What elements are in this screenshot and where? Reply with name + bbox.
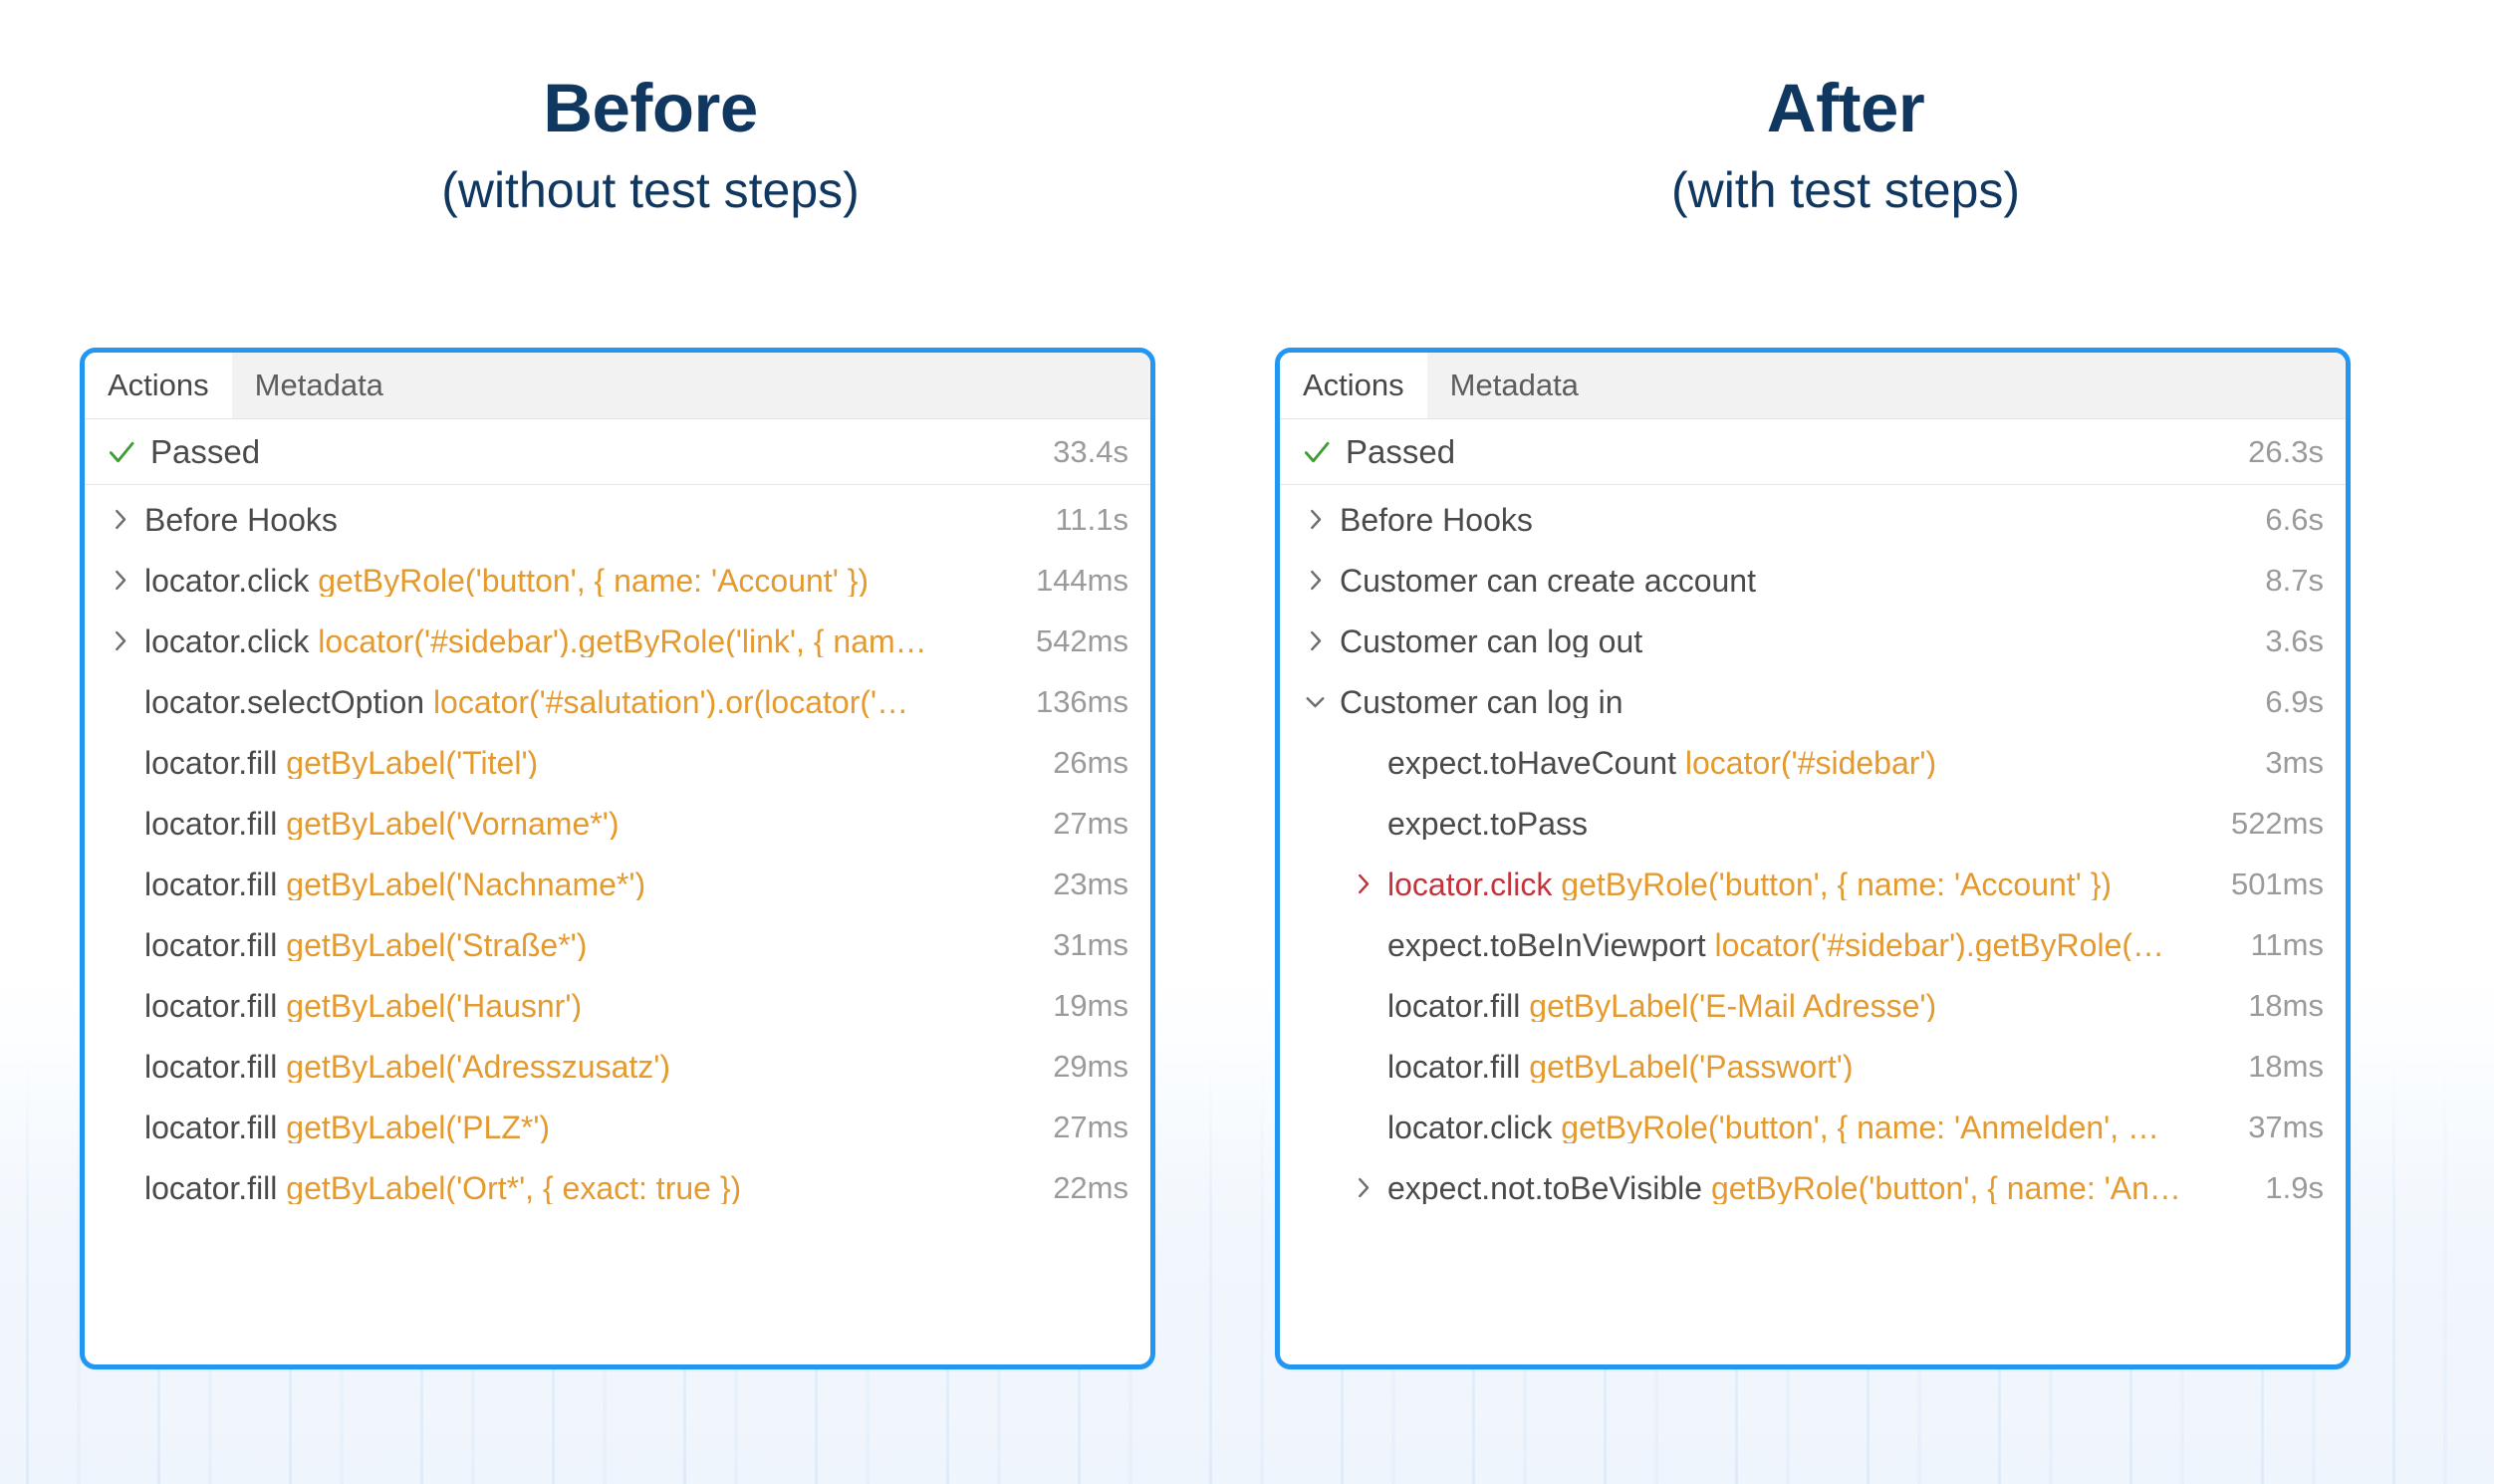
chevron-right-icon[interactable] bbox=[1348, 868, 1378, 899]
chevron-right-icon[interactable] bbox=[1300, 504, 1331, 535]
action-row[interactable]: locator.click getByRole('button', { name… bbox=[85, 550, 1150, 611]
action-duration: 11ms bbox=[2250, 927, 2324, 963]
action-text: locator.fill getByLabel('Hausnr') bbox=[144, 990, 1039, 1022]
before-action-list[interactable]: Before Hooks11.1slocator.click getByRole… bbox=[85, 485, 1150, 1218]
action-row[interactable]: locator.fill getByLabel('Adresszusatz')2… bbox=[85, 1036, 1150, 1097]
action-row[interactable]: locator.selectOption locator('#salutatio… bbox=[85, 671, 1150, 732]
action-row[interactable]: locator.fill getByLabel('Nachname*')23ms bbox=[85, 854, 1150, 914]
action-name: locator.fill bbox=[144, 929, 277, 961]
action-text: locator.click locator('#sidebar').getByR… bbox=[144, 625, 1022, 657]
action-params: getByLabel('Vorname*') bbox=[286, 808, 619, 840]
before-status-label: Passed bbox=[150, 433, 1053, 471]
before-tabbar: Actions Metadata bbox=[85, 353, 1150, 419]
chevron-right-icon[interactable] bbox=[1300, 625, 1331, 656]
action-duration: 29ms bbox=[1053, 1049, 1128, 1085]
action-row[interactable]: locator.click locator('#sidebar').getByR… bbox=[85, 611, 1150, 671]
action-text: locator.fill getByLabel('Nachname*') bbox=[144, 868, 1039, 900]
action-row[interactable]: Customer can log in6.9s bbox=[1280, 671, 2346, 732]
action-text: locator.fill getByLabel('Adresszusatz') bbox=[144, 1051, 1039, 1083]
action-duration: 8.7s bbox=[2265, 563, 2324, 599]
action-duration: 6.6s bbox=[2265, 502, 2324, 538]
action-duration: 26ms bbox=[1053, 745, 1128, 781]
tab-metadata-label: Metadata bbox=[255, 368, 383, 403]
action-params: getByLabel('Nachname*') bbox=[286, 868, 645, 900]
before-subtitle: (without test steps) bbox=[78, 165, 1223, 215]
chevron-down-icon[interactable] bbox=[1300, 686, 1331, 717]
action-name: locator.click bbox=[144, 625, 309, 657]
before-trace-panel: Actions Metadata Passed 33.4s Before Hoo… bbox=[80, 348, 1155, 1369]
action-name: locator.fill bbox=[144, 1172, 277, 1204]
after-column: After (with test steps) Actions Metadata… bbox=[1273, 0, 2418, 215]
chevron-right-icon[interactable] bbox=[105, 625, 135, 656]
action-name: Before Hooks bbox=[1340, 504, 1533, 536]
action-params: getByLabel('Hausnr') bbox=[286, 990, 582, 1022]
action-row[interactable]: locator.fill getByLabel('Hausnr')19ms bbox=[85, 975, 1150, 1036]
action-name: Before Hooks bbox=[144, 504, 338, 536]
action-params: getByLabel('Straße*') bbox=[286, 929, 587, 961]
action-name: Customer can log in bbox=[1340, 686, 1623, 718]
action-row[interactable]: locator.click getByRole('button', { name… bbox=[1280, 1097, 2346, 1157]
tab-actions[interactable]: Actions bbox=[85, 353, 232, 418]
action-row[interactable]: Before Hooks6.6s bbox=[1280, 489, 2346, 550]
action-name: locator.fill bbox=[144, 868, 277, 900]
after-status-label: Passed bbox=[1346, 433, 2248, 471]
action-duration: 31ms bbox=[1053, 927, 1128, 963]
action-name: locator.click bbox=[1387, 1112, 1552, 1143]
tab-metadata[interactable]: Metadata bbox=[232, 353, 406, 418]
before-column: Before (without test steps) Actions Meta… bbox=[78, 0, 1223, 215]
action-name: locator.click bbox=[144, 565, 309, 597]
action-name: locator.fill bbox=[144, 1112, 277, 1143]
action-params: getByLabel('PLZ*') bbox=[286, 1112, 550, 1143]
chevron-right-icon[interactable] bbox=[105, 504, 135, 535]
action-text: locator.click getByRole('button', { name… bbox=[1387, 868, 2217, 900]
action-duration: 18ms bbox=[2248, 988, 2324, 1024]
action-row[interactable]: locator.fill getByLabel('Vorname*')27ms bbox=[85, 793, 1150, 854]
check-icon bbox=[105, 435, 138, 469]
action-duration: 144ms bbox=[1036, 563, 1128, 599]
action-params: getByRole('button', { name: 'Account' }) bbox=[1561, 868, 2112, 900]
before-heading-block: Before (without test steps) bbox=[78, 0, 1223, 215]
action-text: Customer can log in bbox=[1340, 686, 2251, 718]
action-name: expect.toHaveCount bbox=[1387, 747, 1676, 779]
action-row[interactable]: expect.toBeInViewport locator('#sidebar'… bbox=[1280, 914, 2346, 975]
action-params: locator('#sidebar').getByRole(… bbox=[1715, 929, 2165, 961]
action-text: locator.fill getByLabel('Passwort') bbox=[1387, 1051, 2234, 1083]
action-duration: 3ms bbox=[2265, 745, 2324, 781]
action-duration: 23ms bbox=[1053, 866, 1128, 902]
chevron-right-icon[interactable] bbox=[105, 565, 135, 596]
action-params: locator('#sidebar').getByRole('link', { … bbox=[318, 625, 926, 657]
action-name: locator.fill bbox=[144, 747, 277, 779]
action-duration: 22ms bbox=[1053, 1170, 1128, 1206]
action-name: Customer can log out bbox=[1340, 625, 1642, 657]
action-text: Before Hooks bbox=[1340, 504, 2251, 536]
action-text: locator.selectOption locator('#salutatio… bbox=[144, 686, 1022, 718]
action-params: locator('#sidebar') bbox=[1685, 747, 1936, 779]
after-status-duration: 26.3s bbox=[2248, 434, 2324, 470]
action-params: getByRole('button', { name: 'Anmelden', … bbox=[1561, 1112, 2159, 1143]
after-status-row: Passed 26.3s bbox=[1280, 419, 2346, 485]
action-duration: 27ms bbox=[1053, 1110, 1128, 1145]
action-text: locator.fill getByLabel('Straße*') bbox=[144, 929, 1039, 961]
action-text: Before Hooks bbox=[144, 504, 1041, 536]
comparison-page: Before (without test steps) Actions Meta… bbox=[0, 0, 2494, 1484]
action-duration: 19ms bbox=[1053, 988, 1128, 1024]
action-text: locator.click getByRole('button', { name… bbox=[144, 565, 1022, 597]
action-params: getByLabel('Ort*', { exact: true }) bbox=[286, 1172, 741, 1204]
after-heading-block: After (with test steps) bbox=[1273, 0, 2418, 215]
after-trace-panel: Actions Metadata Passed 26.3s Before Hoo… bbox=[1275, 348, 2351, 1369]
action-text: Customer can log out bbox=[1340, 625, 2251, 657]
action-duration: 136ms bbox=[1036, 684, 1128, 720]
action-duration: 501ms bbox=[2231, 866, 2324, 902]
action-text: locator.fill getByLabel('Ort*', { exact:… bbox=[144, 1172, 1039, 1204]
tab-actions-label: Actions bbox=[1303, 368, 1404, 403]
action-row[interactable]: Customer can create account8.7s bbox=[1280, 550, 2346, 611]
chevron-right-icon[interactable] bbox=[1300, 565, 1331, 596]
action-params: locator('#salutation').or(locator('… bbox=[433, 686, 908, 718]
action-row[interactable]: expect.not.toBeVisible getByRole('button… bbox=[1280, 1157, 2346, 1218]
after-title: After bbox=[1273, 74, 2418, 142]
action-row[interactable]: expect.toHaveCount locator('#sidebar')3m… bbox=[1280, 732, 2346, 793]
before-title: Before bbox=[78, 74, 1223, 142]
action-name: Customer can create account bbox=[1340, 565, 1756, 597]
action-name: locator.click bbox=[1387, 868, 1552, 900]
action-row[interactable]: locator.fill getByLabel('Passwort')18ms bbox=[1280, 1036, 2346, 1097]
action-text: locator.fill getByLabel('Vorname*') bbox=[144, 808, 1039, 840]
action-row[interactable]: locator.fill getByLabel('Ort*', { exact:… bbox=[85, 1157, 1150, 1218]
action-duration: 27ms bbox=[1053, 806, 1128, 842]
action-row[interactable]: expect.toPass522ms bbox=[1280, 793, 2346, 854]
action-name: expect.toPass bbox=[1387, 808, 1588, 840]
action-name: locator.fill bbox=[1387, 990, 1520, 1022]
action-duration: 1.9s bbox=[2265, 1170, 2324, 1206]
action-duration: 37ms bbox=[2248, 1110, 2324, 1145]
action-row[interactable]: Customer can log out3.6s bbox=[1280, 611, 2346, 671]
action-duration: 522ms bbox=[2231, 806, 2324, 842]
action-name: expect.not.toBeVisible bbox=[1387, 1172, 1702, 1204]
chevron-right-icon[interactable] bbox=[1348, 1172, 1378, 1203]
action-text: locator.fill getByLabel('PLZ*') bbox=[144, 1112, 1039, 1143]
before-status-row: Passed 33.4s bbox=[85, 419, 1150, 485]
after-subtitle: (with test steps) bbox=[1273, 165, 2418, 215]
action-row[interactable]: Before Hooks11.1s bbox=[85, 489, 1150, 550]
action-duration: 6.9s bbox=[2265, 684, 2324, 720]
action-text: expect.toPass bbox=[1387, 808, 2217, 840]
tab-metadata[interactable]: Metadata bbox=[1427, 353, 1602, 418]
action-row[interactable]: locator.click getByRole('button', { name… bbox=[1280, 854, 2346, 914]
action-text: expect.not.toBeVisible getByRole('button… bbox=[1387, 1172, 2251, 1204]
action-params: getByRole('button', { name: 'Account' }) bbox=[318, 565, 869, 597]
action-params: getByRole('button', { name: 'An… bbox=[1711, 1172, 2181, 1204]
action-params: getByLabel('E-Mail Adresse') bbox=[1529, 990, 1936, 1022]
action-name: expect.toBeInViewport bbox=[1387, 929, 1706, 961]
check-icon bbox=[1300, 435, 1334, 469]
tab-actions-label: Actions bbox=[108, 368, 209, 403]
action-text: locator.fill getByLabel('Titel') bbox=[144, 747, 1039, 779]
action-params: getByLabel('Passwort') bbox=[1529, 1051, 1853, 1083]
action-row[interactable]: locator.fill getByLabel('E-Mail Adresse'… bbox=[1280, 975, 2346, 1036]
action-text: expect.toBeInViewport locator('#sidebar'… bbox=[1387, 929, 2236, 961]
action-name: locator.fill bbox=[144, 990, 277, 1022]
before-status-duration: 33.4s bbox=[1053, 434, 1128, 470]
action-text: locator.click getByRole('button', { name… bbox=[1387, 1112, 2234, 1143]
action-name: locator.fill bbox=[144, 808, 277, 840]
action-row[interactable]: locator.fill getByLabel('PLZ*')27ms bbox=[85, 1097, 1150, 1157]
action-params: getByLabel('Titel') bbox=[286, 747, 538, 779]
action-duration: 18ms bbox=[2248, 1049, 2324, 1085]
tab-actions[interactable]: Actions bbox=[1280, 353, 1427, 418]
action-duration: 11.1s bbox=[1055, 502, 1128, 538]
action-name: locator.selectOption bbox=[144, 686, 424, 718]
action-row[interactable]: locator.fill getByLabel('Straße*')31ms bbox=[85, 914, 1150, 975]
action-name: locator.fill bbox=[144, 1051, 277, 1083]
action-row[interactable]: locator.fill getByLabel('Titel')26ms bbox=[85, 732, 1150, 793]
action-duration: 3.6s bbox=[2265, 623, 2324, 659]
action-text: locator.fill getByLabel('E-Mail Adresse'… bbox=[1387, 990, 2234, 1022]
action-text: Customer can create account bbox=[1340, 565, 2251, 597]
action-text: expect.toHaveCount locator('#sidebar') bbox=[1387, 747, 2251, 779]
after-tabbar: Actions Metadata bbox=[1280, 353, 2346, 419]
after-action-list[interactable]: Before Hooks6.6sCustomer can create acco… bbox=[1280, 485, 2346, 1218]
action-duration: 542ms bbox=[1036, 623, 1128, 659]
action-name: locator.fill bbox=[1387, 1051, 1520, 1083]
action-params: getByLabel('Adresszusatz') bbox=[286, 1051, 670, 1083]
tab-metadata-label: Metadata bbox=[1450, 368, 1579, 403]
